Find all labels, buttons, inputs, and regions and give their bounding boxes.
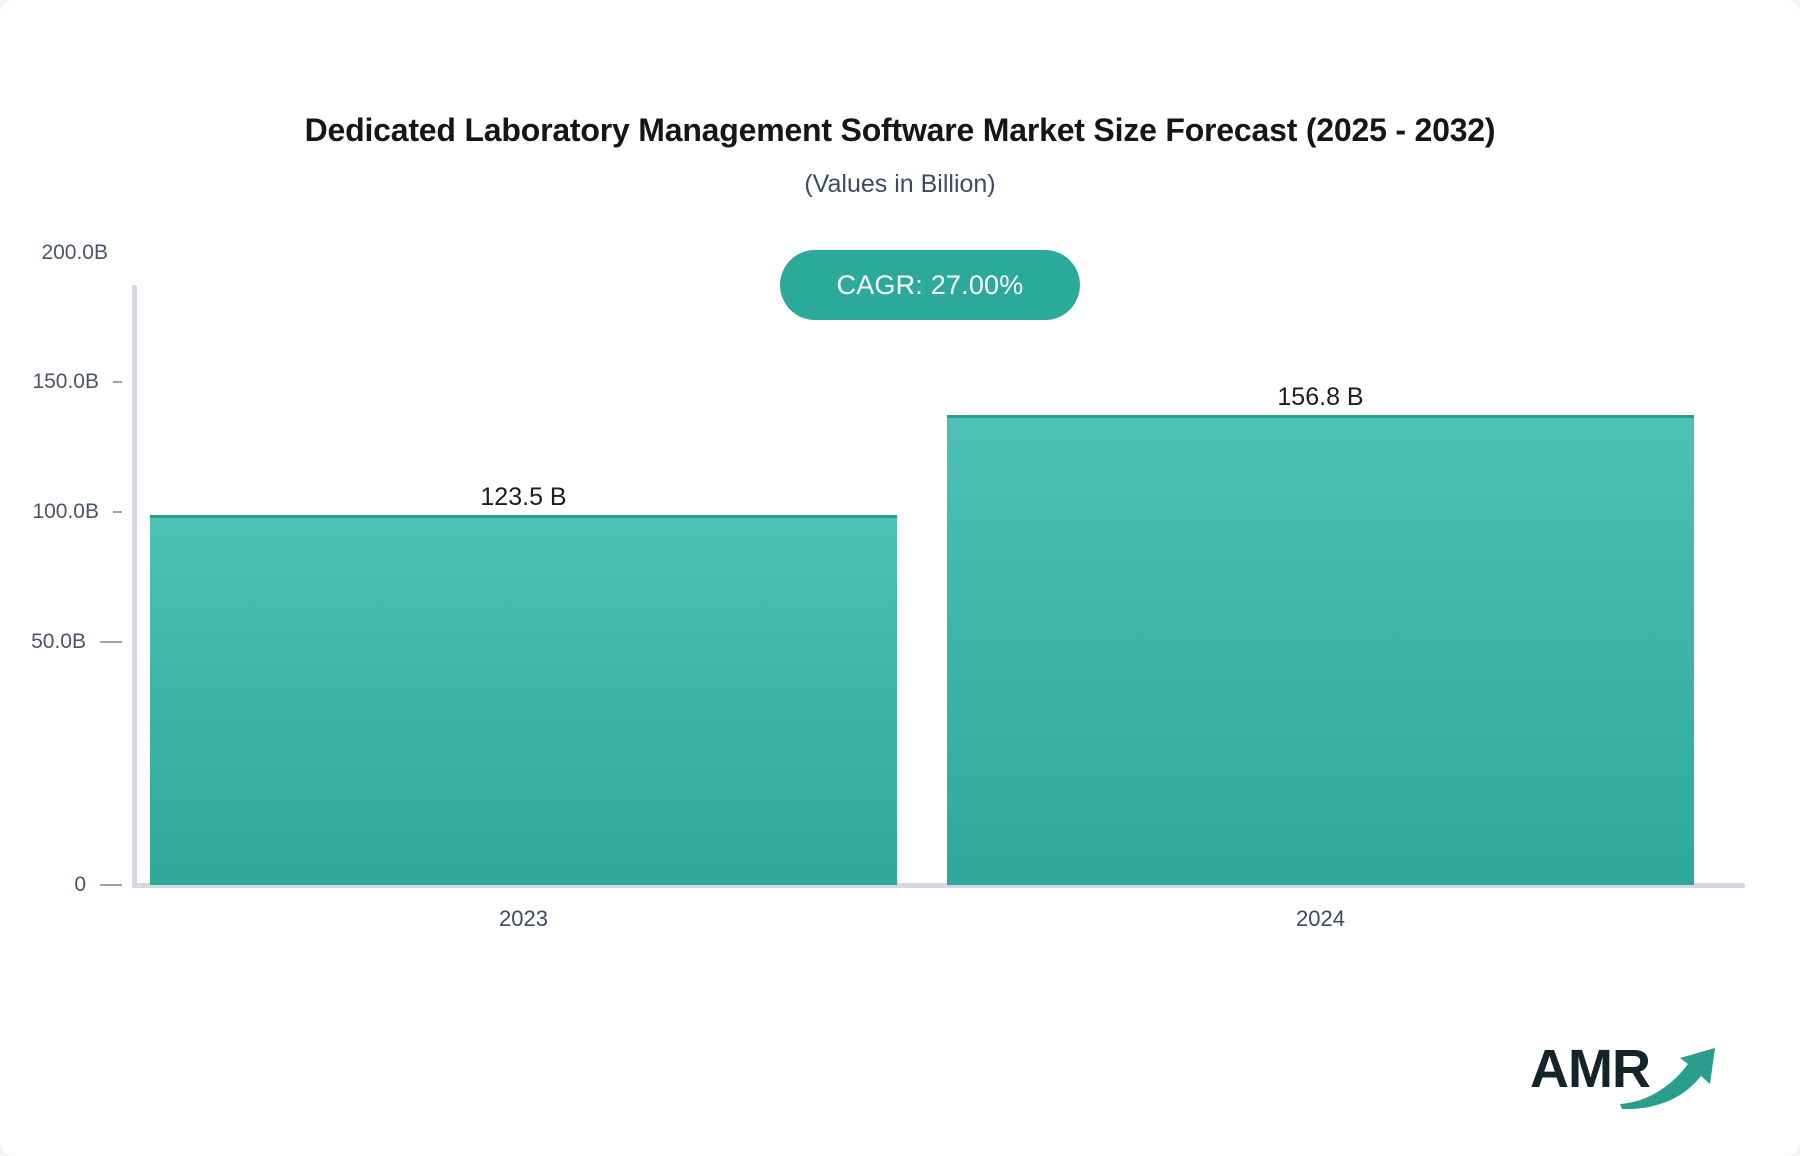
bar-value-2024: 156.8 B: [947, 383, 1694, 412]
y-tick-200: 200.0B: [0, 239, 132, 267]
chart-canvas: Dedicated Laboratory Management Software…: [0, 0, 1800, 1156]
y-tick-label: 200.0B: [41, 241, 108, 265]
amr-logo: AMR: [1530, 1028, 1720, 1114]
y-tick-label: 0: [74, 873, 86, 897]
y-axis-line: [132, 285, 137, 888]
bar-2023[interactable]: [150, 515, 897, 885]
y-tick-mark: [100, 884, 122, 886]
y-tick-mark: [100, 641, 122, 643]
y-tick-50: 50.0B: [0, 628, 132, 656]
y-tick-0: 0: [0, 871, 132, 899]
bar-value-2023: 123.5 B: [150, 483, 897, 512]
y-tick-150: 150.0B: [0, 368, 132, 396]
y-tick-label: 50.0B: [31, 630, 86, 654]
y-tick-mark: [113, 511, 122, 513]
y-tick-label: 150.0B: [32, 370, 99, 394]
growth-arrow-icon: [1618, 1042, 1722, 1110]
y-tick-label: 100.0B: [32, 500, 99, 524]
x-axis-label-2024: 2024: [947, 906, 1694, 932]
y-tick-100: 100.0B: [0, 498, 132, 526]
y-tick-mark: [113, 381, 122, 383]
plot-area: 200.0B 150.0B 100.0B 50.0B 0 123.5 B 202…: [0, 0, 1800, 1156]
x-axis-label-2023: 2023: [150, 906, 897, 932]
bar-2024[interactable]: [947, 415, 1694, 885]
